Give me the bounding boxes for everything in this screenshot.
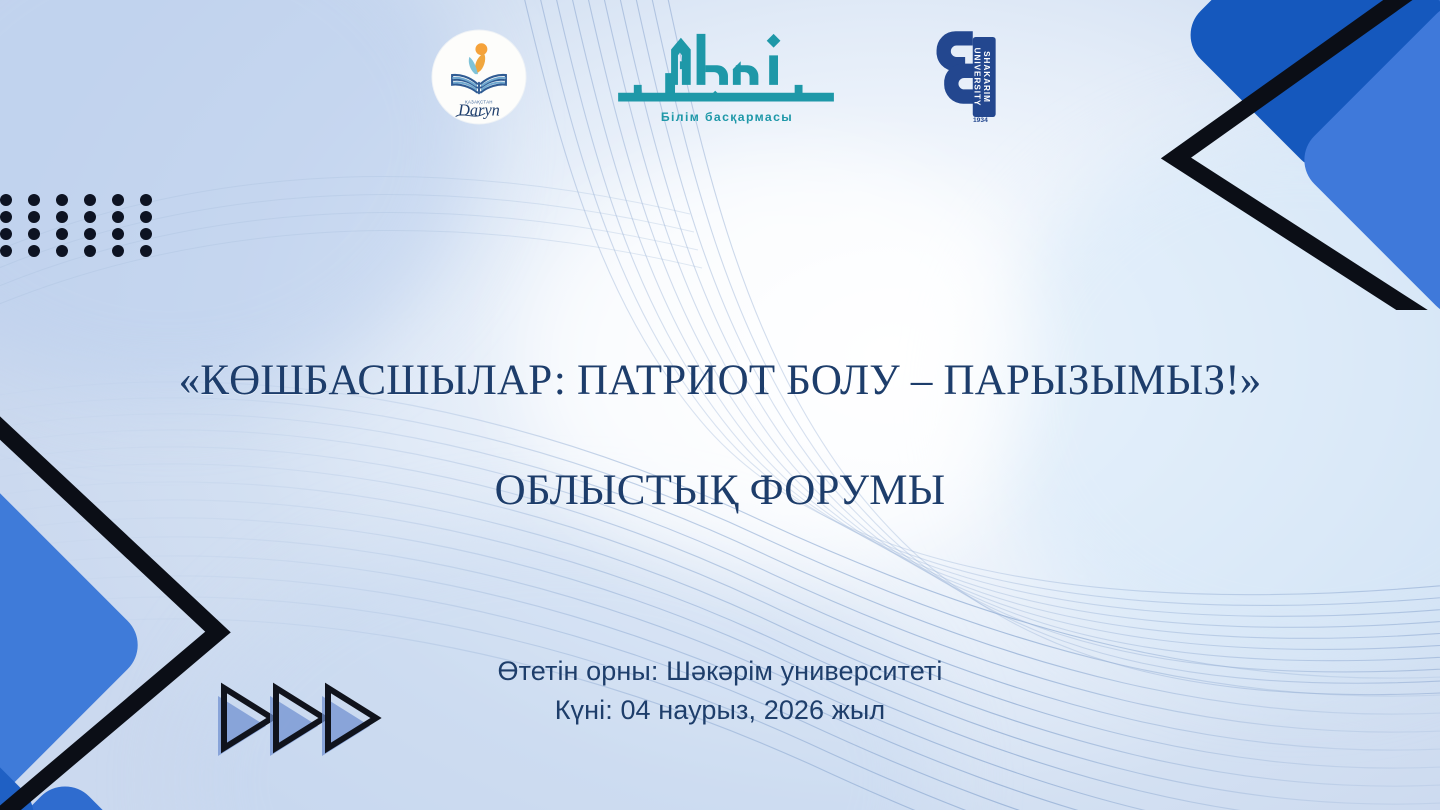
decor-square [0,772,228,810]
shakarim-logo: SHAKARIM UNIVERSITY 1934 [927,29,1009,125]
daryn-logo: ҚАЗАҚСТАН Daryn [431,29,527,125]
abai-subtext: Білім басқармасы [661,110,793,124]
title-line-1: «КӨШБАСШЫЛАР: ПАТРИОТ БОЛУ – ПАРЫЗЫМЫЗ!» [0,353,1440,408]
date-text: Күні: 04 наурыз, 2026 жыл [0,691,1440,730]
svg-text:UNIVERSITY: UNIVERSITY [973,48,982,107]
shakarim-year: 1934 [973,117,988,124]
venue-text: Өтетін орны: Шәкәрім университеті [0,652,1440,691]
dot-grid-decoration [0,193,154,259]
abai-logo: Білім басқармасы [613,26,841,128]
title-line-2: ОБЛЫСТЫҚ ФОРУМЫ [0,463,1440,518]
page-title: «КӨШБАСШЫЛАР: ПАТРИОТ БОЛУ – ПАРЫЗЫМЫЗ!»… [0,298,1440,573]
logo-row: ҚАЗАҚСТАН Daryn [0,26,1440,128]
svg-text:Daryn: Daryn [457,100,500,119]
forum-poster: ҚАЗАҚСТАН Daryn [0,0,1440,810]
svg-text:SHAKARIM: SHAKARIM [982,51,991,103]
event-details: Өтетін орны: Шәкәрім университеті Күні: … [0,652,1440,731]
